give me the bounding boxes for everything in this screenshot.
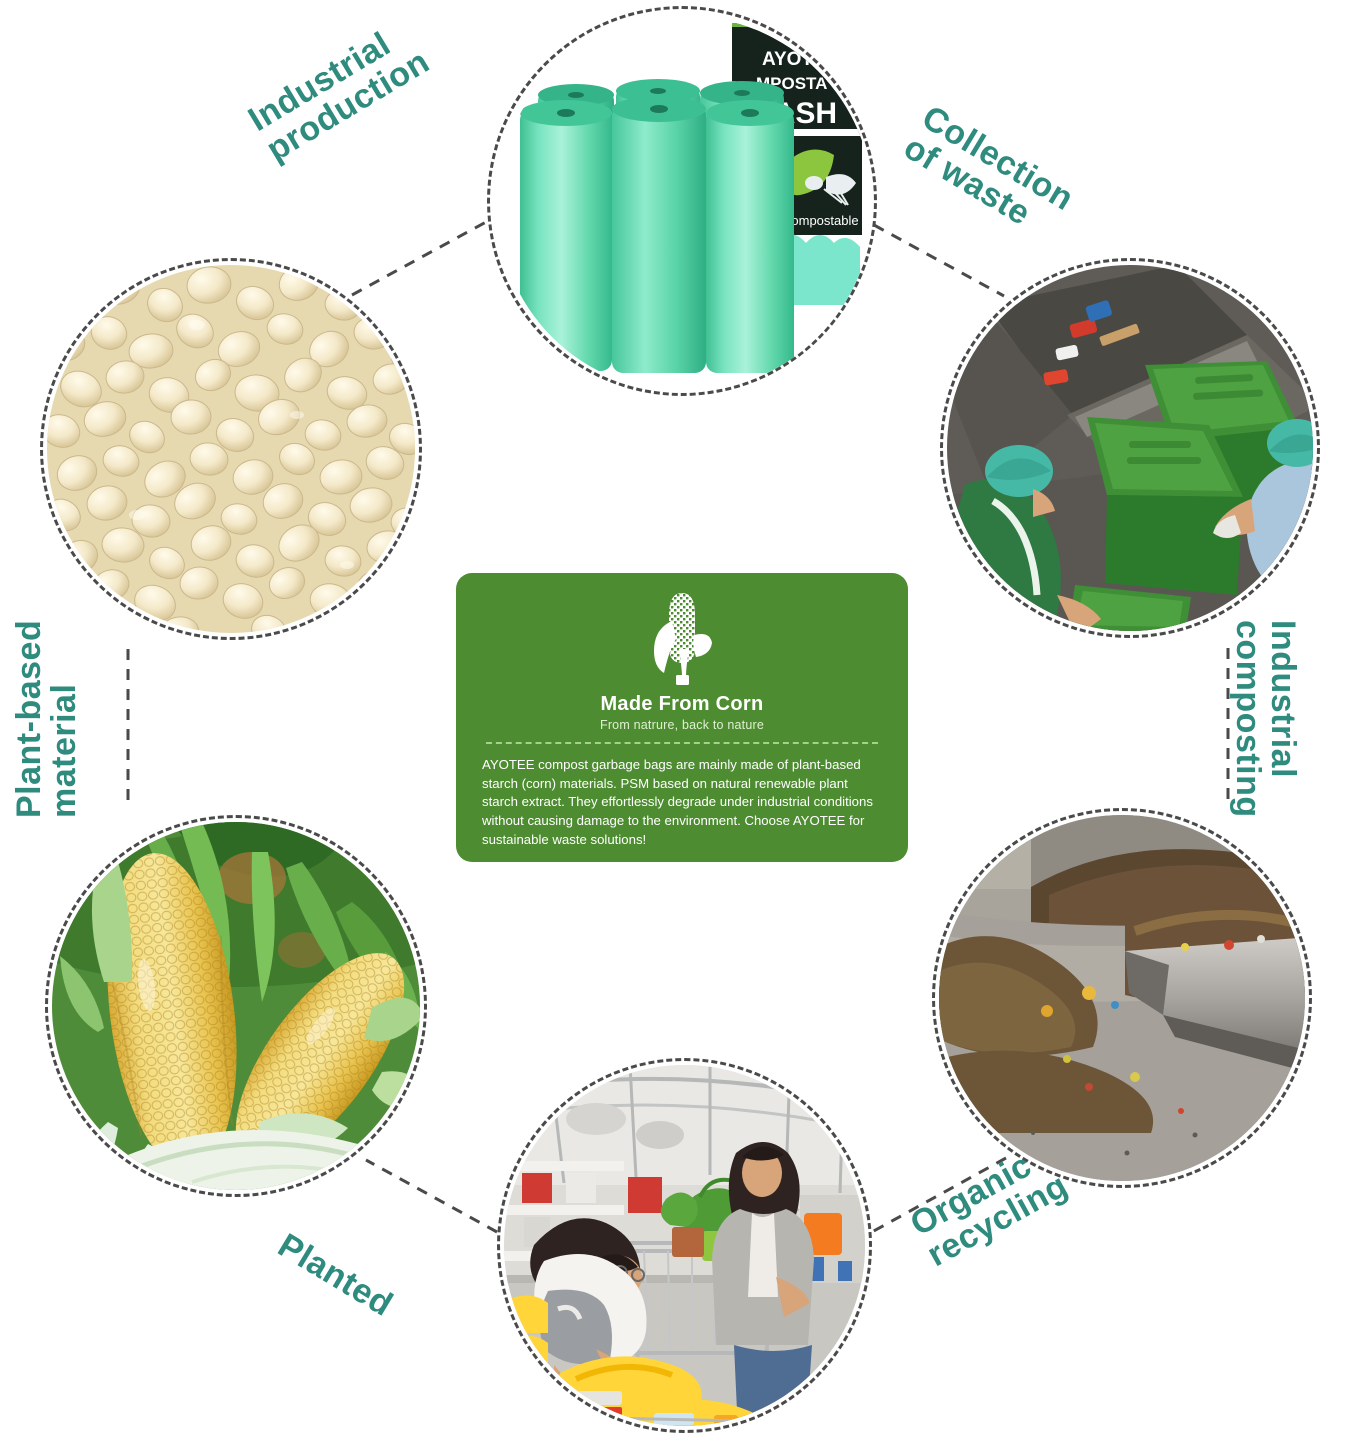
- node-planted[interactable]: [45, 815, 427, 1197]
- node-organic-recycling[interactable]: [497, 1058, 872, 1433]
- photo-collection-of-waste: [947, 265, 1313, 631]
- photo-industrial-composting: [939, 815, 1305, 1181]
- corn-icon-wrap: [482, 591, 882, 689]
- node-industrial-composting[interactable]: [932, 808, 1312, 1188]
- photo-industrial-composting-frame: [939, 815, 1305, 1181]
- photo-plant-based-material: [47, 265, 415, 633]
- photo-industrial-production-frame: AYOTE MPOSTA RASH Compostable: [494, 13, 870, 389]
- svg-text:AYOTE: AYOTE: [762, 49, 826, 70]
- card-title: Made From Corn: [482, 693, 882, 716]
- label-industrial-composting: Industrial composting: [1229, 620, 1300, 818]
- photo-organic-recycling: [504, 1065, 865, 1426]
- photo-planted: [52, 822, 420, 1190]
- photo-planted-frame: [52, 822, 420, 1190]
- infographic-stage: AYOTE MPOSTA RASH Compostable: [0, 0, 1365, 1444]
- corn-cob-icon: [650, 591, 714, 687]
- made-from-corn-card: Made From Corn From natrure, back to nat…: [456, 573, 908, 862]
- photo-plant-based-material-frame: [47, 265, 415, 633]
- card-subtitle: From natrure, back to nature: [482, 718, 882, 732]
- card-divider: [486, 742, 878, 744]
- label-collection-of-waste: Collection of waste: [898, 100, 1080, 248]
- label-industrial-production: Industrial production: [243, 14, 436, 169]
- photo-collection-of-waste-frame: [947, 265, 1313, 631]
- node-collection-of-waste[interactable]: [940, 258, 1320, 638]
- node-industrial-production[interactable]: AYOTE MPOSTA RASH Compostable: [487, 6, 877, 396]
- photo-industrial-production: AYOTE MPOSTA RASH Compostable: [494, 13, 876, 395]
- label-planted: Planted: [272, 1228, 398, 1323]
- card-body-text: AYOTEE compost garbage bags are mainly m…: [482, 756, 882, 850]
- node-plant-based-material[interactable]: [40, 258, 422, 640]
- label-plant-based-material: Plant-based material: [12, 620, 83, 818]
- photo-organic-recycling-frame: [504, 1065, 865, 1426]
